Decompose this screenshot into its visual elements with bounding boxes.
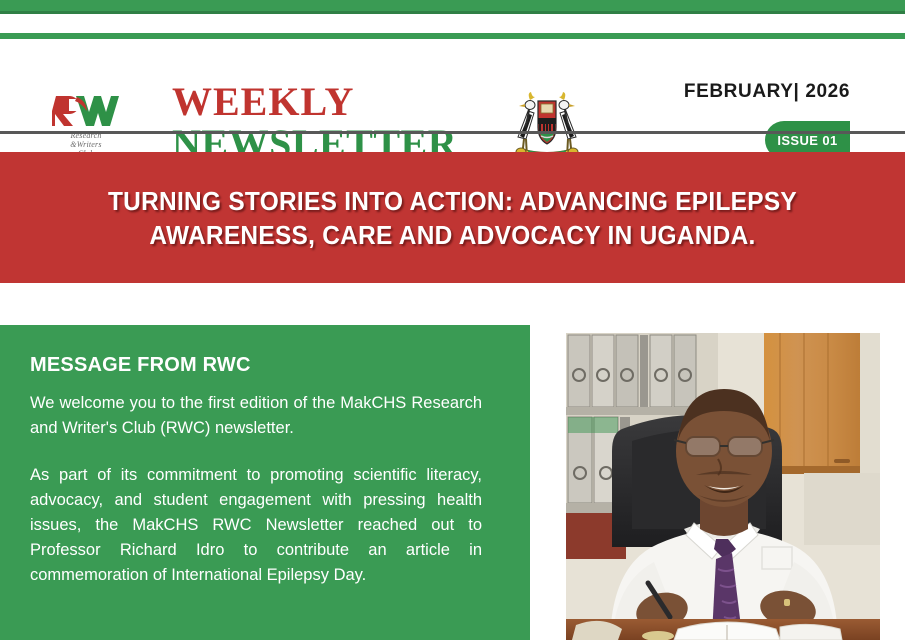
top-green-band [0,0,905,11]
title-line-weekly: WEEKLY [172,81,472,123]
message-paragraph-2: As part of its commitment to promoting s… [30,463,482,588]
masthead-divider [0,131,905,134]
message-from-rwc-panel: MESSAGE FROM RWC We welcome you to the f… [0,325,530,640]
issue-date: FEBRUARY| 2026 [684,81,850,103]
professor-portrait-photo [566,333,880,640]
rwc-logo-caption-line2: &Writers [70,140,101,149]
headline-banner: TURNING STORIES INTO ACTION: ADVANCING E… [0,152,905,283]
masthead: Research &Writers Club WEEKLY NEWSLETTER [0,39,905,131]
message-heading: MESSAGE FROM RWC [30,354,482,377]
headline-text: TURNING STORIES INTO ACTION: ADVANCING E… [27,184,878,252]
top-green-hairline [0,11,905,14]
message-paragraph-1: We welcome you to the first edition of t… [30,391,482,441]
rwc-logo-mark-icon [52,93,120,129]
